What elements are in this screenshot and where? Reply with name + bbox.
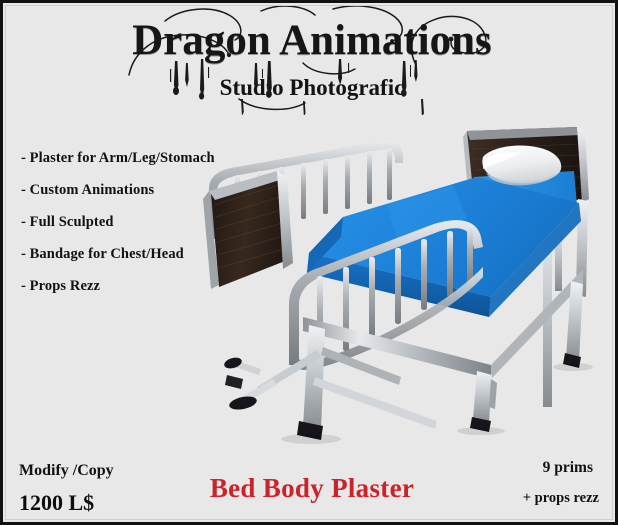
feature-item: - Plaster for Arm/Leg/Stomach: [21, 150, 215, 167]
feature-list: - Plaster for Arm/Leg/Stomach - Custom A…: [21, 150, 215, 310]
prim-count-label: 9 prims: [543, 459, 593, 477]
feature-item: - Full Sculpted: [21, 214, 215, 231]
product-poster: Dragon Animations Studio Photografic: [0, 0, 618, 525]
props-rezz-label: + props rezz: [523, 490, 599, 507]
feature-item: - Custom Animations: [21, 182, 215, 199]
bed-feet: [225, 353, 581, 440]
ink-drip-icon: [3, 3, 618, 115]
brand-header: Dragon Animations Studio Photografic: [3, 3, 618, 115]
feature-item: - Props Rezz: [21, 278, 215, 295]
product-image-hospital-bed: [191, 121, 618, 446]
feature-item: - Bandage for Chest/Head: [21, 246, 215, 263]
